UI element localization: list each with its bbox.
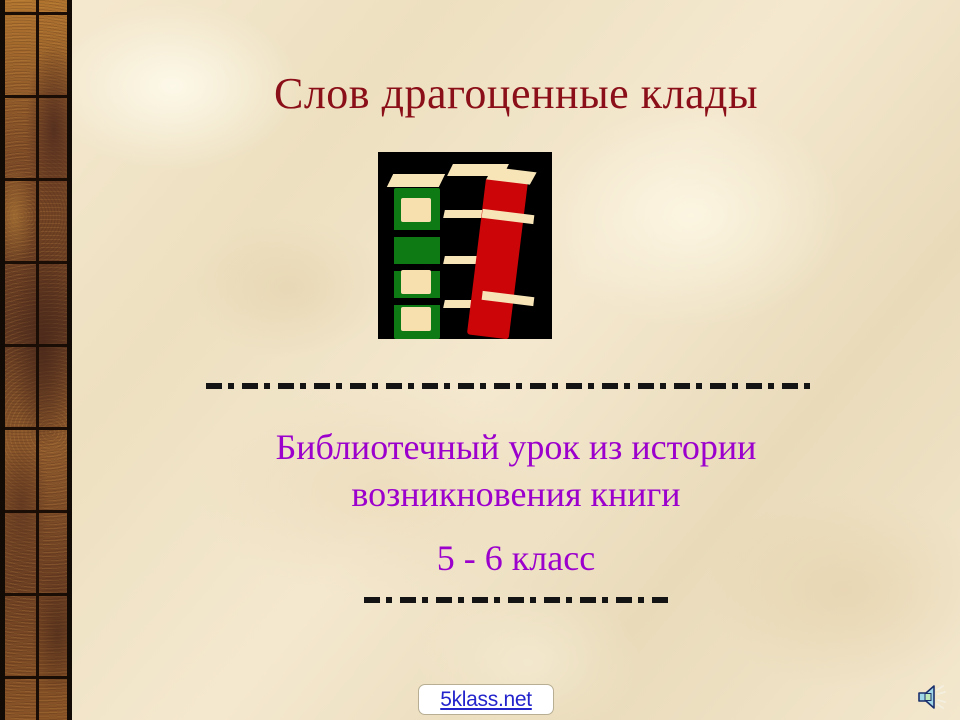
border-grid-vertical-line bbox=[36, 0, 39, 720]
red-book-spine bbox=[467, 177, 528, 339]
border-grid-horizontal-line bbox=[5, 427, 67, 430]
border-grid-horizontal-line bbox=[5, 510, 67, 513]
subtitle-line-2: возникновения книги bbox=[72, 471, 960, 518]
border-grid-horizontal-line bbox=[5, 676, 67, 679]
green-book-divider bbox=[394, 230, 440, 237]
border-grid-horizontal-line bbox=[5, 95, 67, 98]
slide-grade-label: 5 - 6 класс bbox=[72, 536, 960, 580]
speaker-icon[interactable] bbox=[915, 682, 949, 712]
green-book-label bbox=[401, 270, 431, 294]
presentation-slide: Слов драгоценные клады Библиотечный урок… bbox=[0, 0, 960, 720]
border-grid-horizontal-line bbox=[5, 261, 67, 264]
decorative-left-border bbox=[0, 0, 72, 720]
green-book-top-edge bbox=[387, 174, 445, 187]
subtitle-line-1: Библиотечный урок из истории bbox=[72, 424, 960, 471]
border-grid-horizontal-line bbox=[5, 178, 67, 181]
green-book-label bbox=[401, 198, 431, 222]
border-edge-left bbox=[0, 0, 5, 720]
slide-subtitle: Библиотечный урок из истории возникновен… bbox=[72, 424, 960, 518]
divider-line-bottom bbox=[364, 597, 670, 603]
books-illustration bbox=[378, 152, 552, 339]
border-grid-horizontal-line bbox=[5, 12, 67, 15]
border-grid-horizontal-line bbox=[5, 593, 67, 596]
green-book-divider bbox=[394, 298, 440, 305]
watermark-badge[interactable]: 5klass.net bbox=[418, 684, 554, 715]
divider-line-top bbox=[206, 383, 810, 389]
green-book-label bbox=[401, 307, 431, 331]
border-grid-horizontal-line bbox=[5, 344, 67, 347]
slide-title: Слов драгоценные клады bbox=[72, 68, 960, 120]
watermark-link-text[interactable]: 5klass.net bbox=[440, 689, 532, 710]
